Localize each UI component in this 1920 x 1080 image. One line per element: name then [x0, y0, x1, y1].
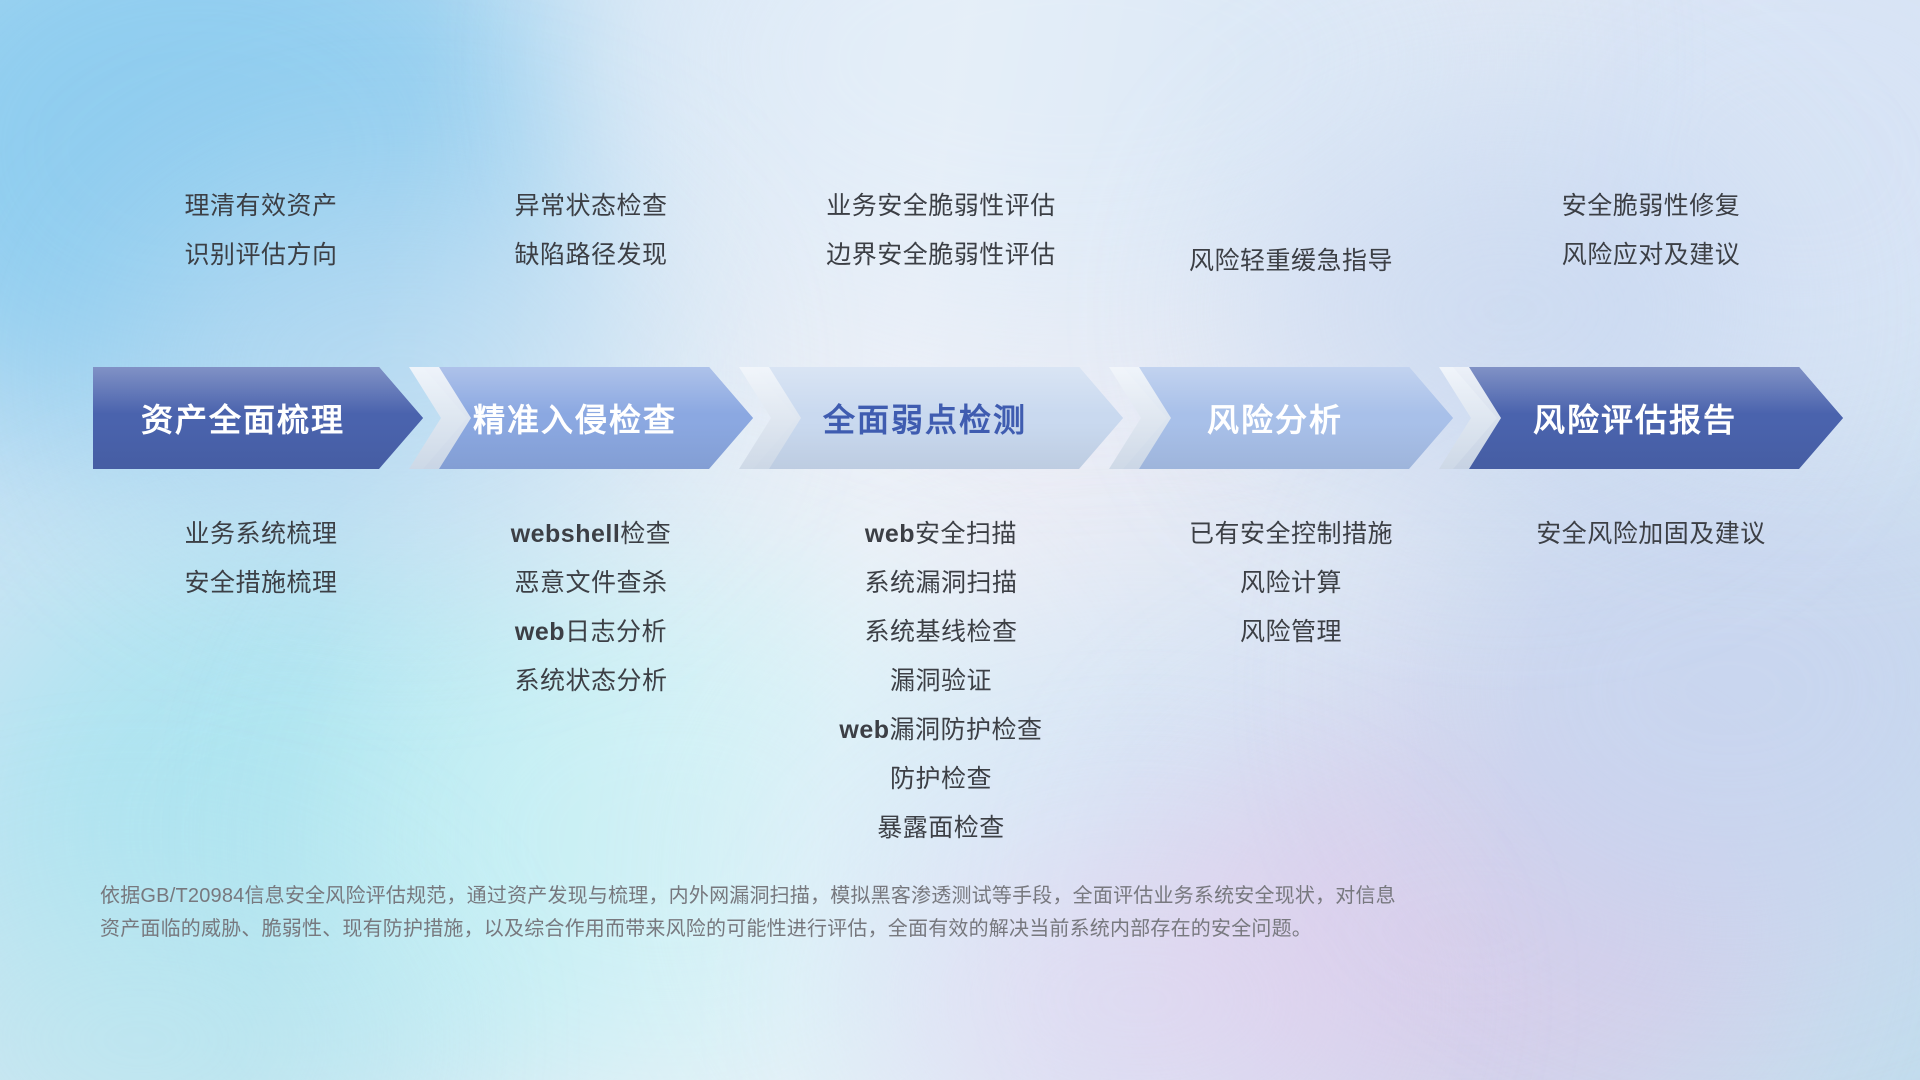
detail-item: 恶意文件查杀: [426, 559, 756, 608]
bottom-column-asset-inventory: 业务系统梳理安全措施梳理: [96, 510, 426, 608]
top-column-intrusion-check: 异常状态检查缺陷路径发现: [426, 182, 756, 280]
detail-item: 系统状态分析: [426, 657, 756, 706]
detail-item: 已有安全控制措施: [1126, 510, 1456, 559]
stage-separator: [739, 367, 801, 469]
bottom-column-weakness-detection: web安全扫描系统漏洞扫描系统基线检查漏洞验证web漏洞防护检查防护检查暴露面检…: [756, 510, 1126, 853]
detail-item: 系统基线检查: [756, 608, 1126, 657]
stage-label: 全面弱点检测: [823, 395, 1053, 441]
bottom-column-risk-report: 安全风险加固及建议: [1456, 510, 1846, 559]
process-stage-intrusion-check[interactable]: 精准入侵检查: [423, 367, 753, 469]
top-item: 缺陷路径发现: [426, 231, 756, 280]
detail-item: 业务系统梳理: [96, 510, 426, 559]
top-annotations-row: 理清有效资产识别评估方向异常状态检查缺陷路径发现业务安全脆弱性评估边界安全脆弱性…: [96, 190, 1856, 280]
process-stage-weakness-detection[interactable]: 全面弱点检测: [753, 367, 1123, 469]
detail-item: web安全扫描: [756, 510, 1126, 559]
diagram-content: 理清有效资产识别评估方向异常状态检查缺陷路径发现业务安全脆弱性评估边界安全脆弱性…: [0, 0, 1920, 1080]
top-item: 风险轻重缓急指导: [1126, 237, 1456, 286]
top-column-risk-analysis: 风险轻重缓急指导: [1126, 237, 1456, 286]
bottom-column-risk-analysis: 已有安全控制措施风险计算风险管理: [1126, 510, 1456, 657]
process-stage-risk-analysis[interactable]: 风险分析: [1123, 367, 1453, 469]
stage-label: 风险分析: [1207, 395, 1369, 441]
stage-separator: [1109, 367, 1171, 469]
top-column-weakness-detection: 业务安全脆弱性评估边界安全脆弱性评估: [756, 182, 1126, 280]
detail-item: 防护检查: [756, 755, 1126, 804]
stage-label: 精准入侵检查: [473, 395, 703, 441]
top-column-risk-report: 安全脆弱性修复风险应对及建议: [1456, 182, 1846, 280]
detail-item: 系统漏洞扫描: [756, 559, 1126, 608]
process-stage-asset-inventory[interactable]: 资产全面梳理: [93, 367, 423, 469]
top-item: 异常状态检查: [426, 182, 756, 231]
bottom-details-row: 业务系统梳理安全措施梳理webshell检查恶意文件查杀web日志分析系统状态分…: [96, 510, 1856, 830]
top-item: 边界安全脆弱性评估: [756, 231, 1126, 280]
top-item: 安全脆弱性修复: [1456, 182, 1846, 231]
stage-label: 风险评估报告: [1533, 395, 1763, 441]
bottom-column-intrusion-check: webshell检查恶意文件查杀web日志分析系统状态分析: [426, 510, 756, 706]
detail-item: 风险计算: [1126, 559, 1456, 608]
detail-item: 安全风险加固及建议: [1456, 510, 1846, 559]
detail-item: 漏洞验证: [756, 657, 1126, 706]
stage-label: 资产全面梳理: [141, 395, 375, 441]
footer-description: 依据GB/T20984信息安全风险评估规范，通过资产发现与梳理，内外网漏洞扫描，…: [100, 880, 1600, 946]
detail-item: web日志分析: [426, 608, 756, 657]
top-item: 业务安全脆弱性评估: [756, 182, 1126, 231]
top-item: 风险应对及建议: [1456, 231, 1846, 280]
stage-separator: [409, 367, 471, 469]
process-stage-risk-report[interactable]: 风险评估报告: [1453, 367, 1843, 469]
detail-item: webshell检查: [426, 510, 756, 559]
detail-item: 安全措施梳理: [96, 559, 426, 608]
footer-line-2: 资产面临的威胁、脆弱性、现有防护措施，以及综合作用而带来风险的可能性进行评估，全…: [100, 913, 1600, 946]
process-arrow-band: 资产全面梳理精准入侵检查全面弱点检测风险分析风险评估报告: [93, 367, 1843, 469]
detail-item: 暴露面检查: [756, 804, 1126, 853]
detail-item: 风险管理: [1126, 608, 1456, 657]
top-item: 识别评估方向: [96, 231, 426, 280]
detail-item: web漏洞防护检查: [756, 706, 1126, 755]
footer-line-1: 依据GB/T20984信息安全风险评估规范，通过资产发现与梳理，内外网漏洞扫描，…: [100, 880, 1600, 913]
top-column-asset-inventory: 理清有效资产识别评估方向: [96, 182, 426, 280]
top-item: 理清有效资产: [96, 182, 426, 231]
stage-separator: [1439, 367, 1501, 469]
